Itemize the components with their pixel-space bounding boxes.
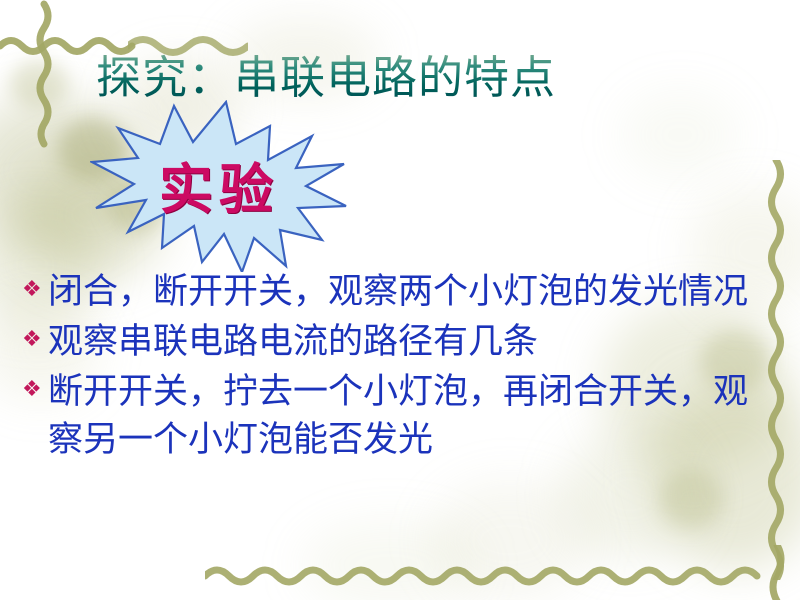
presentation-slide: 探究：串联电路的特点 实验 ❖ 闭合，断开开关，观察两个小灯泡的发光情况 ❖ 观… xyxy=(0,0,800,600)
wavy-horizontal-line-bottom xyxy=(205,560,775,588)
list-item: ❖ 闭合，断开开关，观察两个小灯泡的发光情况 xyxy=(22,268,774,316)
list-item: ❖ 观察串联电路电流的路径有几条 xyxy=(22,318,774,366)
wavy-cross-decoration-top-left xyxy=(14,0,84,150)
diamond-bullet-icon: ❖ xyxy=(22,268,48,301)
diamond-bullet-icon: ❖ xyxy=(22,318,48,351)
list-item-text: 闭合，断开开关，观察两个小灯泡的发光情况 xyxy=(48,268,774,316)
wavy-cross-decoration-bottom-right xyxy=(762,545,792,600)
list-item: ❖ 断开开关，拧去一个小灯泡，再闭合开关，观察另一个小灯泡能否发光 xyxy=(22,368,774,464)
diamond-bullet-icon: ❖ xyxy=(22,368,48,401)
starburst-badge: 实验 xyxy=(90,100,348,272)
list-item-text: 观察串联电路电流的路径有几条 xyxy=(48,318,774,366)
page-title: 探究：串联电路的特点 xyxy=(96,51,556,105)
starburst-label: 实验 xyxy=(90,145,348,224)
bullet-list: ❖ 闭合，断开开关，观察两个小灯泡的发光情况 ❖ 观察串联电路电流的路径有几条 … xyxy=(22,268,774,466)
list-item-text: 断开开关，拧去一个小灯泡，再闭合开关，观察另一个小灯泡能否发光 xyxy=(48,368,774,464)
